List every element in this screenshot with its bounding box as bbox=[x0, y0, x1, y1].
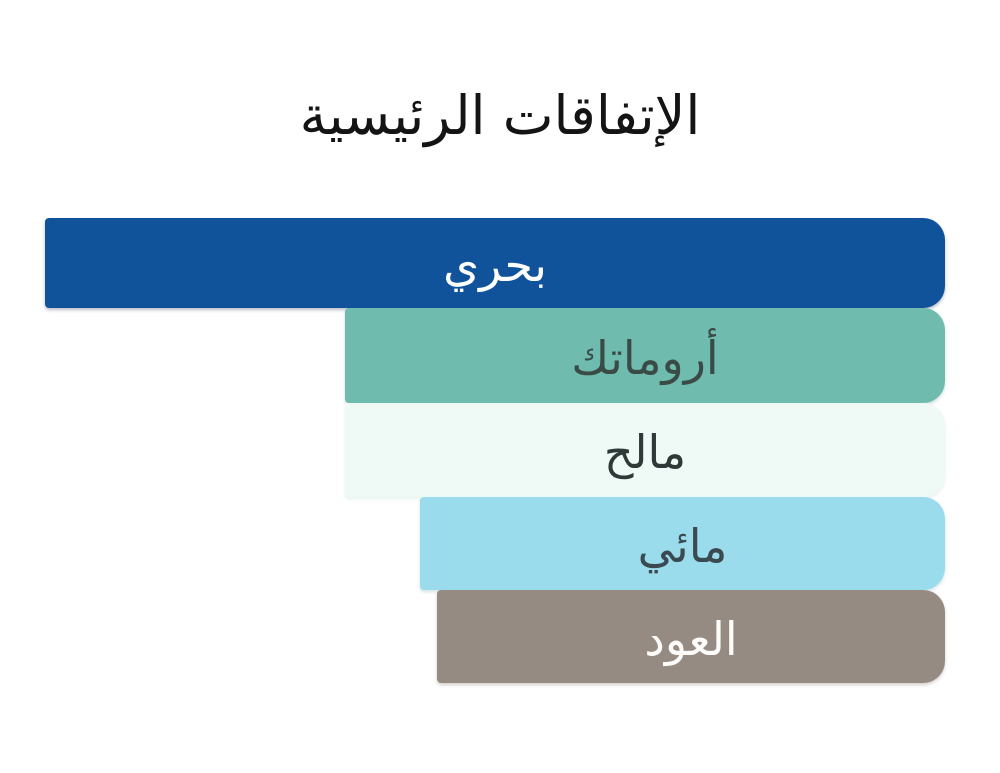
funnel-bar-label: أروماتك bbox=[571, 335, 718, 381]
funnel-bar-label: بحري bbox=[443, 242, 547, 288]
funnel-chart: الإتفاقات الرئيسية بحري أروماتك مالح مائ… bbox=[0, 0, 1000, 773]
funnel-bar-label: العود bbox=[644, 616, 737, 662]
funnel-stack: بحري أروماتك مالح مائي العود bbox=[0, 0, 1000, 773]
funnel-bar-aromatic[interactable]: أروماتك bbox=[345, 308, 945, 403]
funnel-bar-oud[interactable]: العود bbox=[437, 590, 945, 683]
funnel-bar-aquatic[interactable]: مائي bbox=[420, 497, 945, 590]
funnel-bar-label: مائي bbox=[638, 523, 728, 569]
funnel-bar-salty[interactable]: مالح bbox=[345, 403, 945, 497]
funnel-bar-marine[interactable]: بحري bbox=[45, 218, 945, 308]
funnel-bar-label: مالح bbox=[604, 429, 686, 475]
